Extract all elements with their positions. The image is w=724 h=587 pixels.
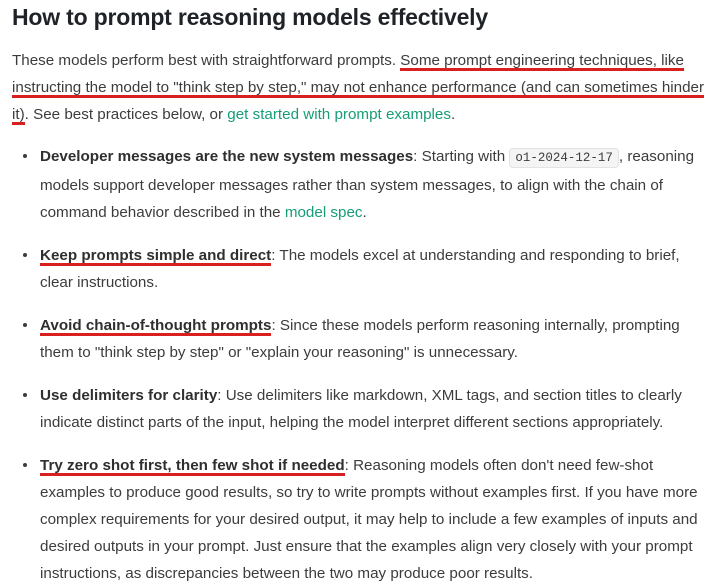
bullet-lead-keep-prompts-simple: Keep prompts simple and direct — [40, 247, 271, 267]
intro-text-middle: . See best practices below, or — [25, 106, 228, 123]
list-item-developer-messages: Developer messages are the new system me… — [12, 143, 712, 226]
bullet-dot-icon — [23, 393, 27, 397]
model-version-code-chip: o1-2024-12-17 — [509, 148, 619, 168]
bullet-lead-developer-messages: Developer messages are the new system me… — [40, 148, 413, 165]
list-item-try-zero-shot-first: Try zero shot first, then few shot if ne… — [12, 452, 712, 587]
document-page: How to prompt reasoning models effective… — [0, 3, 724, 543]
bullet-lead-try-zero-shot-first: Try zero shot first, then few shot if ne… — [40, 457, 345, 477]
get-started-prompt-examples-link[interactable]: get started with prompt examples — [227, 106, 451, 123]
list-item-use-delimiters: Use delimiters for clarity: Use delimite… — [12, 382, 712, 436]
bullet-body-before-code: : Starting with — [413, 148, 509, 165]
bullet-lead-use-delimiters: Use delimiters for clarity — [40, 387, 217, 404]
intro-text-lead: These models perform best with straightf… — [12, 52, 400, 69]
intro-text-tail: . — [451, 106, 455, 123]
bullet-dot-icon — [23, 463, 27, 467]
list-item-keep-prompts-simple: Keep prompts simple and direct: The mode… — [12, 242, 712, 296]
bullet-dot-icon — [23, 323, 27, 327]
best-practices-list: Developer messages are the new system me… — [12, 143, 712, 587]
list-item-avoid-chain-of-thought: Avoid chain-of-thought prompts: Since th… — [12, 312, 712, 366]
bullet-body-tail: . — [363, 204, 367, 221]
bullet-dot-icon — [23, 253, 27, 257]
page-title: How to prompt reasoning models effective… — [12, 3, 712, 31]
intro-paragraph: These models perform best with straightf… — [12, 47, 712, 128]
bullet-lead-avoid-chain-of-thought: Avoid chain-of-thought prompts — [40, 317, 271, 337]
bullet-dot-icon — [23, 154, 27, 158]
model-spec-link[interactable]: model spec — [285, 204, 363, 221]
